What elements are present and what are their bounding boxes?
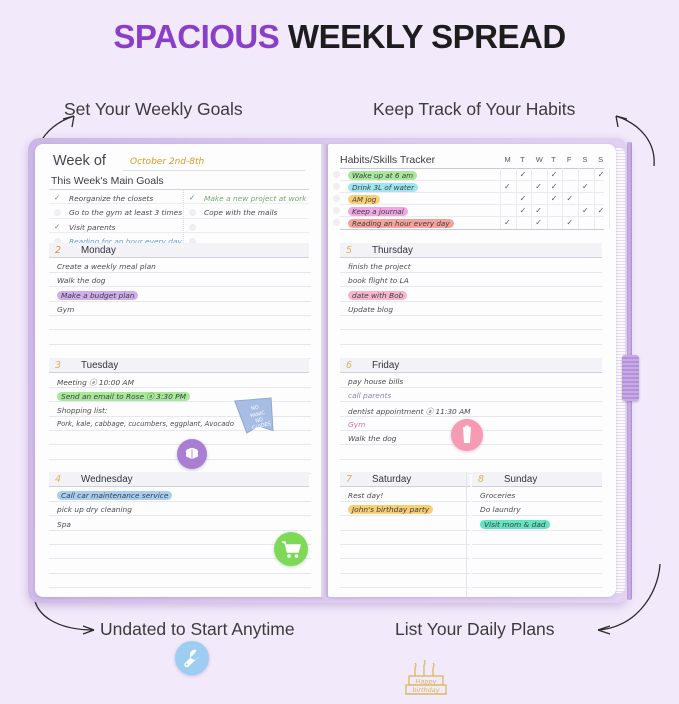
day-task: Create a weekly meal plan — [57, 262, 156, 271]
habit-check-mark[interactable]: ✓ — [598, 170, 605, 179]
day-task: finish the project — [348, 262, 411, 271]
habits-tracker-title: Habits/Skills Tracker — [340, 154, 435, 166]
rule-line — [340, 315, 602, 316]
rule-line — [340, 272, 602, 273]
tracker-grid-line — [340, 229, 604, 230]
day-name: Monday — [81, 245, 116, 256]
day-task: Make a budget plan — [57, 291, 138, 300]
habit-check-mark[interactable]: ✓ — [582, 182, 589, 191]
tracker-grid-line — [340, 168, 604, 169]
tracker-grid-line — [340, 204, 604, 205]
goal-item-label: Visit parents — [69, 223, 116, 232]
goal-item-label: Go to the gym at least 3 times — [69, 208, 182, 217]
day-task: Update blog — [348, 305, 393, 314]
task-highlight: date with Bob — [348, 291, 407, 300]
tracker-grid-line — [340, 192, 604, 193]
day-task: pick up dry cleaning — [57, 505, 132, 514]
day-task: book flight to LA — [348, 276, 409, 285]
day-number: 3 — [55, 360, 61, 371]
task-highlight: Visit mom & dad — [480, 520, 550, 529]
page-title: SPACIOUS WEEKLY SPREAD — [0, 18, 679, 56]
day-name: Friday — [372, 360, 399, 371]
day-number: 5 — [346, 245, 352, 256]
goal-item-label: Cope with the mails — [204, 208, 277, 217]
rule-line — [340, 558, 470, 559]
tracker-grid-line — [500, 168, 501, 229]
svg-text:birthday: birthday — [412, 686, 439, 694]
habit-checkbox[interactable] — [333, 183, 340, 190]
rule-line — [49, 344, 311, 345]
week-of-label: Week of — [53, 153, 106, 169]
rule-line — [49, 329, 311, 330]
title-accent: SPACIOUS — [113, 18, 279, 55]
caption-list-daily-plans: List Your Daily Plans — [395, 619, 555, 640]
left-page: Week ofOctober 2nd-8thThis Week's Main G… — [35, 144, 323, 597]
habit-check-mark[interactable]: ✓ — [551, 170, 558, 179]
habit-check-mark[interactable]: ✓ — [598, 206, 605, 215]
rule-line — [340, 573, 470, 574]
habit-label: Keep a journal — [348, 207, 408, 216]
cup-sticker — [451, 419, 483, 451]
goal-checkmark: ✓ — [54, 222, 60, 231]
shopping-cart-sticker — [274, 532, 308, 566]
habit-check-mark[interactable]: ✓ — [504, 182, 511, 191]
day-task: Send an email to Rose ⓐ 3:30 PM — [57, 391, 190, 402]
rule-line — [49, 573, 311, 574]
day-task: Meeting ⓐ 10:00 AM — [57, 377, 134, 388]
rule-line — [340, 401, 602, 402]
day-number: 2 — [55, 245, 61, 256]
day-task: Walk the dog — [348, 434, 397, 443]
goal-checkmark: ✓ — [54, 193, 60, 202]
rule-line — [340, 329, 602, 330]
rule-line — [49, 587, 311, 588]
goal-checkmark: ✓ — [189, 193, 195, 202]
habit-highlight: Drink 3L of water — [348, 183, 418, 192]
day-task: date with Bob — [348, 291, 407, 300]
day-name: Saturday — [372, 474, 411, 485]
habit-check-mark[interactable]: ✓ — [566, 218, 573, 227]
rule-line — [472, 501, 602, 502]
caption-keep-track-habits: Keep Track of Your Habits — [373, 99, 575, 120]
planner-notebook: Week ofOctober 2nd-8thThis Week's Main G… — [28, 138, 628, 603]
task-highlight: Make a budget plan — [57, 291, 138, 300]
goal-row-rule — [49, 203, 309, 204]
day-number: 4 — [55, 474, 61, 485]
day-task: Call car maintenance service — [57, 491, 172, 500]
goals-top-rule — [49, 189, 309, 190]
rule-line — [49, 530, 311, 531]
habit-check-mark[interactable]: ✓ — [520, 206, 527, 215]
right-page: Habits/Skills TrackerMTWTFSSWake up at 6… — [328, 144, 616, 597]
caption-undated-start-anytime: Undated to Start Anytime — [100, 619, 295, 640]
tracker-day-header: W — [536, 155, 543, 164]
tracker-grid-line — [531, 168, 532, 229]
rule-line — [340, 459, 602, 460]
rule-line — [49, 301, 311, 302]
rule-line — [340, 587, 470, 588]
rule-line — [340, 286, 602, 287]
tracker-grid-line — [516, 168, 517, 229]
goal-item-label: Reorganize the closets — [69, 194, 153, 203]
tracker-day-header: S — [598, 155, 603, 164]
day-task: pay house bills — [348, 377, 403, 386]
day-task: Groceries — [480, 491, 515, 500]
day-name: Tuesday — [81, 360, 118, 371]
goal-checkbox[interactable] — [54, 209, 61, 216]
habit-check-mark[interactable]: ✓ — [520, 194, 527, 203]
tracker-grid-line — [340, 180, 604, 181]
day-task: Spa — [57, 520, 71, 529]
rule-line — [49, 272, 311, 273]
habit-label: Drink 3L of water — [348, 183, 418, 192]
day-header-rule — [340, 372, 602, 373]
rule-line — [472, 544, 602, 545]
day-header-rule — [472, 486, 602, 487]
day-header-rule — [340, 257, 602, 258]
weekend-column-divider — [466, 472, 467, 597]
rule-line — [472, 515, 602, 516]
goal-checkbox[interactable] — [189, 224, 196, 231]
week-of-rule — [123, 170, 305, 171]
rule-line — [340, 515, 470, 516]
habit-highlight: Keep a journal — [348, 207, 408, 216]
day-task: Visit mom & dad — [480, 520, 550, 529]
goal-item-label: Make a new project at work — [204, 194, 306, 203]
goals-column-divider — [183, 190, 184, 249]
habit-check-mark[interactable]: ✓ — [535, 206, 542, 215]
day-task: Gym — [57, 305, 74, 314]
rule-line — [49, 515, 311, 516]
day-number: 7 — [346, 474, 352, 485]
tracker-day-header: T — [551, 155, 556, 164]
habit-checkbox[interactable] — [333, 195, 340, 202]
tracker-grid-line — [340, 216, 604, 217]
tracker-grid-line — [594, 168, 595, 229]
caption-set-weekly-goals: Set Your Weekly Goals — [64, 99, 243, 120]
habit-check-mark[interactable]: ✓ — [551, 182, 558, 191]
habit-highlight: Wake up at 6 am — [348, 171, 417, 180]
day-task: dentist appointment ⓐ 11:30 AM — [348, 406, 471, 417]
rule-line — [49, 286, 311, 287]
habit-check-mark[interactable]: ✓ — [582, 206, 589, 215]
habit-highlight: Reading an hour every day — [348, 219, 454, 228]
day-name: Wednesday — [81, 474, 133, 485]
day-task: Rest day! — [348, 491, 383, 500]
day-task: call parents — [348, 391, 391, 400]
goal-row-rule — [49, 232, 309, 233]
tracker-day-header: M — [505, 155, 511, 164]
day-number: 8 — [478, 474, 484, 485]
week-of-value[interactable]: October 2nd-8th — [130, 157, 204, 167]
day-number: 6 — [346, 360, 352, 371]
tracker-grid-line — [547, 168, 548, 229]
day-task: Walk the dog — [57, 276, 106, 285]
brain-sticker — [177, 439, 207, 469]
rule-line — [472, 573, 602, 574]
tracker-day-header: F — [567, 155, 572, 164]
rule-line — [49, 315, 311, 316]
habit-highlight: AM jog — [348, 195, 380, 204]
goal-row-rule — [49, 218, 309, 219]
main-goals-title: This Week's Main Goals — [51, 175, 164, 187]
day-header-rule — [340, 486, 470, 487]
day-task: Do laundry — [480, 505, 521, 514]
day-task: Gym — [348, 420, 365, 429]
tracker-grid-line — [578, 168, 579, 229]
habit-check-mark[interactable]: ✓ — [566, 194, 573, 203]
day-header-rule — [49, 486, 309, 487]
habit-check-mark[interactable]: ✓ — [551, 194, 558, 203]
tracker-grid-line — [562, 168, 563, 229]
rule-line — [49, 501, 311, 502]
rule-line — [340, 501, 470, 502]
day-task: Shopping list: — [57, 406, 107, 415]
habit-checkbox[interactable] — [333, 207, 340, 214]
rule-line — [340, 544, 470, 545]
rule-line — [472, 558, 602, 559]
habit-check-mark[interactable]: ✓ — [504, 218, 511, 227]
rule-line — [472, 530, 602, 531]
day-header-rule — [49, 372, 309, 373]
rule-line — [340, 387, 602, 388]
rule-line — [472, 587, 602, 588]
task-highlight: Call car maintenance service — [57, 491, 172, 500]
rule-line — [340, 301, 602, 302]
birthday-cake-sticker: Happy birthday — [399, 654, 453, 700]
tracker-day-header: T — [520, 155, 525, 164]
task-highlight: John's birthday party — [348, 505, 433, 514]
day-name: Sunday — [504, 474, 537, 485]
habit-check-mark[interactable]: ✓ — [535, 182, 542, 191]
habit-label: AM jog — [348, 195, 380, 204]
day-name: Thursday — [372, 245, 413, 256]
tracker-day-header: S — [583, 155, 588, 164]
rule-line — [340, 344, 602, 345]
goal-checkbox[interactable] — [189, 209, 196, 216]
habit-check-mark[interactable]: ✓ — [520, 170, 527, 179]
habit-check-mark[interactable]: ✓ — [535, 218, 542, 227]
wrench-sticker — [175, 641, 209, 675]
day-header-rule — [49, 257, 309, 258]
rule-line — [340, 530, 470, 531]
day-task: John's birthday party — [348, 505, 433, 514]
title-plain: WEEKLY SPREAD — [288, 18, 566, 55]
day-task: Pork, kale, cabbage, cucumbers, eggplant… — [57, 420, 234, 428]
tracker-grid-line — [609, 168, 610, 229]
elastic-band-loop[interactable] — [622, 355, 639, 401]
rule-line — [49, 544, 311, 545]
task-highlight: Send an email to Rose ⓐ 3:30 PM — [57, 392, 190, 401]
habit-checkbox[interactable] — [333, 219, 340, 226]
habit-checkbox[interactable] — [333, 171, 340, 178]
rule-line — [49, 558, 311, 559]
habit-label: Wake up at 6 am — [348, 171, 417, 180]
habit-label: Reading an hour every day — [348, 219, 454, 228]
